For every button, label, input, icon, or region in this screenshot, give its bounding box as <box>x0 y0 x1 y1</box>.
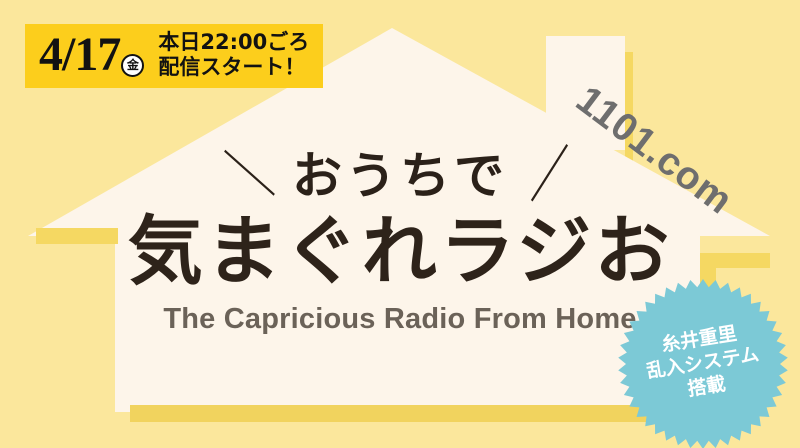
slash-left-decoration: ＼ <box>223 145 278 207</box>
slash-right-decoration: ／ <box>523 145 578 207</box>
kicker-row: ＼ おうちで ／ <box>0 148 800 204</box>
poster-canvas: 1101.com 4/17 金 本日22:00ごろ 配信スタート！ ＼ おうちで… <box>0 0 800 448</box>
kicker-text: おうちで <box>292 151 508 201</box>
feature-starburst-badge: 糸井重里 乱入システム 搭載 <box>617 278 789 448</box>
banner-line-2: 配信スタート！ <box>158 55 309 80</box>
date-group: 4/17 金 <box>39 31 144 79</box>
weekday-badge: 金 <box>121 54 144 77</box>
date-number: 4/17 <box>39 31 120 79</box>
floor-shadow <box>130 405 700 422</box>
banner-line-1: 本日22:00ごろ <box>158 30 309 55</box>
starburst-shape <box>617 278 789 448</box>
broadcast-date-banner: 4/17 金 本日22:00ごろ 配信スタート！ <box>25 24 323 88</box>
banner-text-block: 本日22:00ごろ 配信スタート！ <box>158 30 309 80</box>
